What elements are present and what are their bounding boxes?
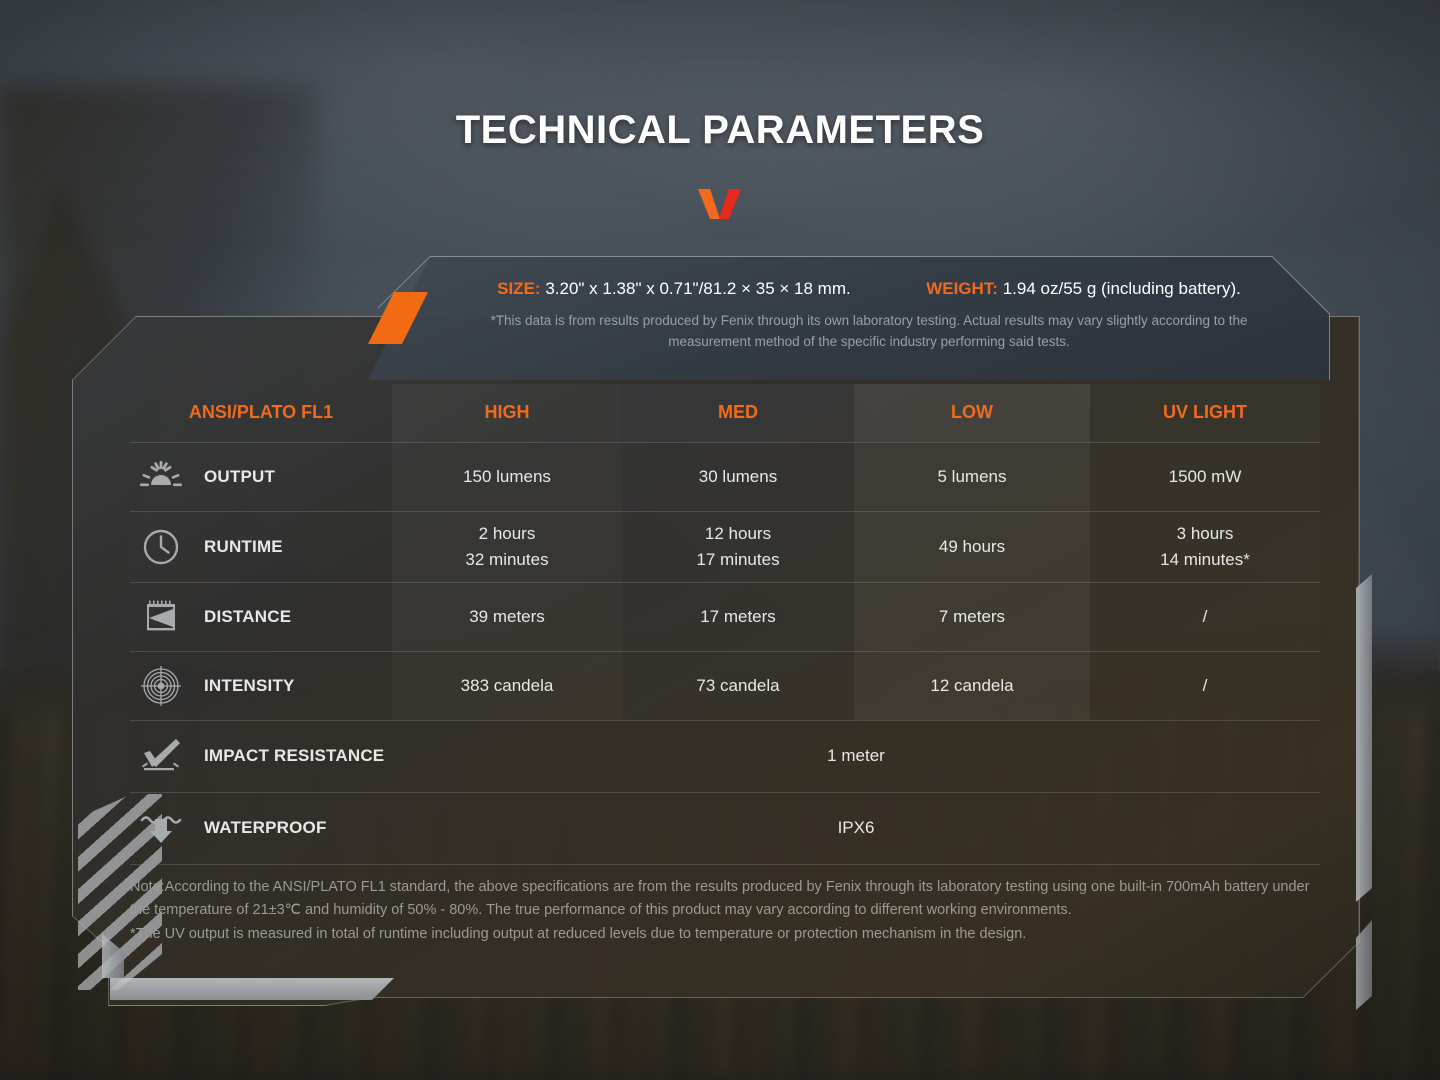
size-weight-line: SIZE: 3.20" x 1.38" x 0.71"/81.2 × 35 × … [426, 256, 1312, 299]
row-label-intensity: INTENSITY [130, 651, 392, 720]
row-label-text: OUTPUT [204, 467, 275, 487]
cell-intensity-uv: / [1090, 651, 1320, 720]
page-title: TECHNICAL PARAMETERS [0, 108, 1440, 153]
row-label-text: DISTANCE [204, 607, 291, 627]
weight-value: 1.94 oz/55 g (including battery). [1003, 279, 1241, 298]
row-label-text: RUNTIME [204, 537, 283, 557]
clock-icon [138, 527, 184, 567]
cell-runtime-high-l1: 2 hours [392, 521, 622, 547]
cell-runtime-high: 2 hours 32 minutes [392, 511, 622, 582]
cell-runtime-uv: 3 hours 14 minutes* [1090, 511, 1320, 582]
row-label-waterproof: WATERPROOF [130, 792, 392, 864]
cell-runtime-uv-l2: 14 minutes* [1090, 547, 1320, 573]
cell-output-uv: 1500 mW [1090, 442, 1320, 511]
weight-label: WEIGHT: [926, 279, 998, 298]
cell-intensity-low: 12 candela [854, 651, 1090, 720]
cell-impact-resistance-value: 1 meter [392, 720, 1320, 792]
sunburst-icon [138, 457, 184, 497]
cell-distance-uv: / [1090, 582, 1320, 651]
chevron-down-icon [698, 189, 742, 219]
row-label-text: WATERPROOF [204, 818, 327, 838]
cell-output-low: 5 lumens [854, 442, 1090, 511]
footer-note-line-2: *The UV output is measured in total of r… [130, 923, 1326, 946]
column-header-uv: UV LIGHT [1090, 384, 1320, 442]
cell-runtime-high-l2: 32 minutes [392, 547, 622, 573]
row-label-text: INTENSITY [204, 676, 295, 696]
cell-runtime-med-l1: 12 hours [622, 521, 854, 547]
cell-distance-med: 17 meters [622, 582, 854, 651]
impact-resistance-icon [138, 736, 184, 776]
cell-distance-high: 39 meters [392, 582, 622, 651]
size-value: 3.20" x 1.38" x 0.71"/81.2 × 35 × 18 mm. [545, 279, 850, 298]
column-header-ansi: ANSI/PLATO FL1 [130, 384, 392, 442]
disclaimer-text: *This data is from results produced by F… [426, 311, 1312, 353]
cell-distance-low: 7 meters [854, 582, 1090, 651]
chevron-wrap [0, 189, 1440, 219]
cell-runtime-med-l2: 17 minutes [622, 547, 854, 573]
cell-output-med: 30 lumens [622, 442, 854, 511]
row-label-distance: DISTANCE [130, 582, 392, 651]
cell-intensity-high: 383 candela [392, 651, 622, 720]
target-intensity-icon [138, 666, 184, 706]
title-block: TECHNICAL PARAMETERS [0, 108, 1440, 219]
table-row: RUNTIME 2 hours 32 minutes 12 hours 17 m… [130, 511, 1320, 582]
row-label-text: IMPACT RESISTANCE [204, 746, 384, 766]
specs-panel: ANSI/PLATO FL1 HIGH MED LOW UV LIGHT [72, 316, 1360, 1006]
table-row: IMPACT RESISTANCE 1 meter [130, 720, 1320, 792]
table-row: INTENSITY 383 candela 73 candela 12 cand… [130, 651, 1320, 720]
table-row: DISTANCE 39 meters 17 meters 7 meters / [130, 582, 1320, 651]
cell-runtime-low: 49 hours [854, 511, 1090, 582]
cell-waterproof-value: IPX6 [392, 792, 1320, 864]
column-header-low: LOW [854, 384, 1090, 442]
table-row: WATERPROOF IPX6 [130, 792, 1320, 864]
size-label: SIZE: [497, 279, 540, 298]
cell-intensity-med: 73 candela [622, 651, 854, 720]
beam-distance-icon [138, 597, 184, 637]
cell-runtime-uv-l1: 3 hours [1090, 521, 1320, 547]
right-accent-bar [1356, 574, 1372, 902]
footer-note: Note:According to the ANSI/PLATO FL1 sta… [130, 876, 1326, 946]
waterproof-icon [138, 808, 184, 848]
column-header-med: MED [622, 384, 854, 442]
row-label-impact-resistance: IMPACT RESISTANCE [130, 720, 392, 792]
footer-note-line-1: Note:According to the ANSI/PLATO FL1 sta… [130, 876, 1326, 923]
cell-runtime-med: 12 hours 17 minutes [622, 511, 854, 582]
specifications-table: ANSI/PLATO FL1 HIGH MED LOW UV LIGHT [130, 384, 1320, 865]
cell-output-high: 150 lumens [392, 442, 622, 511]
size-weight-panel: SIZE: 3.20" x 1.38" x 0.71"/81.2 × 35 × … [368, 256, 1330, 380]
row-label-runtime: RUNTIME [130, 511, 392, 582]
row-label-output: OUTPUT [130, 442, 392, 511]
table-header-row: ANSI/PLATO FL1 HIGH MED LOW UV LIGHT [130, 384, 1320, 442]
bottom-left-accent-bar [110, 978, 394, 1000]
table-row: OUTPUT 150 lumens 30 lumens 5 lumens 150… [130, 442, 1320, 511]
column-header-high: HIGH [392, 384, 622, 442]
